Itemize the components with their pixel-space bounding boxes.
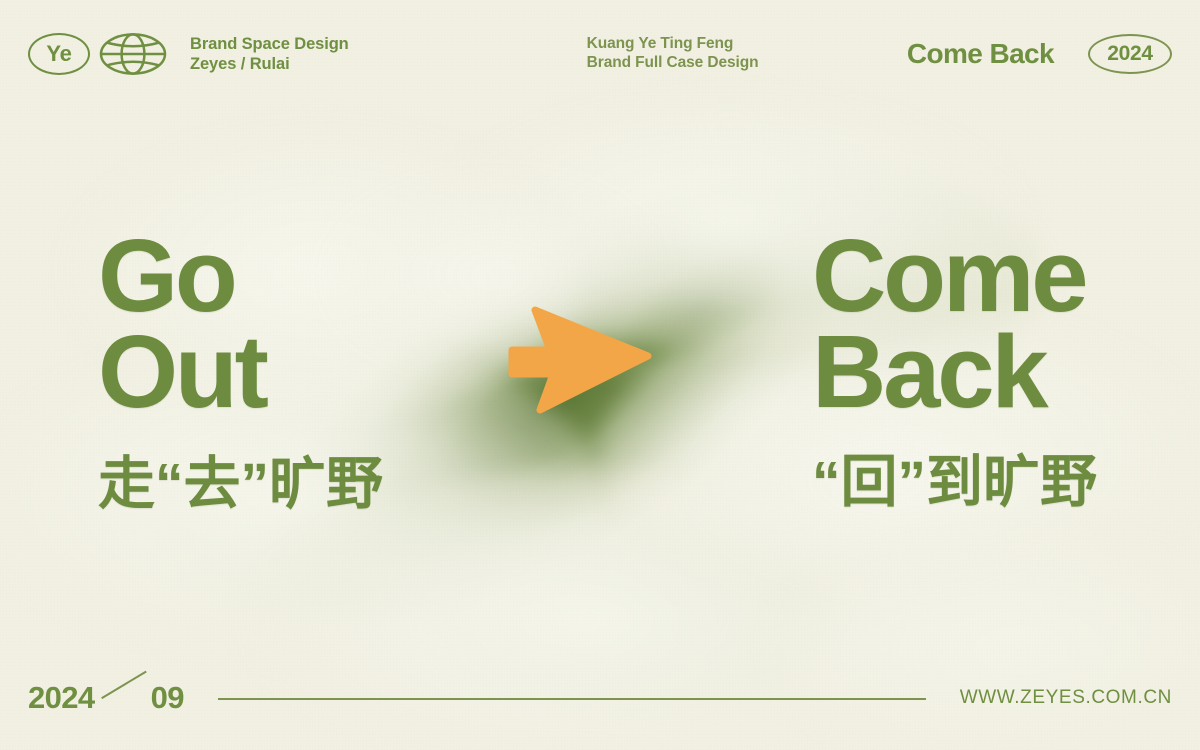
headline-go: Go (98, 228, 383, 324)
footer-divider-rule (218, 698, 926, 700)
brand-tagline-line-1: Brand Space Design (190, 34, 349, 54)
year-badge: 2024 (1088, 34, 1172, 74)
arrow-right-icon (498, 296, 668, 426)
project-subtitle-line-2: Brand Full Case Design (587, 54, 759, 73)
headline-come: Come (812, 228, 1097, 324)
brand-tagline: Brand Space Design Zeyes / Rulai (190, 34, 349, 75)
footer-website-url[interactable]: WWW.ZEYES.COM.CN (960, 687, 1172, 709)
footer-date: 2024 09 (28, 680, 184, 716)
header-kicker-come-back: Come Back (907, 38, 1054, 70)
header-right-group: Come Back 2024 (907, 34, 1172, 74)
brand-tagline-line-2: Zeyes / Rulai (190, 54, 349, 74)
subhead-right-chinese: “回”到旷野 (812, 454, 1097, 511)
brand-logo-group[interactable]: Ye (28, 33, 167, 75)
poster-header: Ye Brand Space Design Zeyes / Rulai Kuan… (0, 0, 1200, 108)
headline-back: Back (812, 324, 1097, 420)
project-subtitle: Kuang Ye Ting Feng Brand Full Case Desig… (587, 35, 759, 73)
footer-year: 2024 (28, 680, 95, 716)
headline-block-left: Go Out 走“去”旷野 (98, 228, 383, 513)
ye-monogram-logo[interactable]: Ye (28, 33, 90, 75)
project-subtitle-line-1: Kuang Ye Ting Feng (587, 35, 759, 54)
globe-icon (99, 33, 167, 75)
poster-canvas: Ye Brand Space Design Zeyes / Rulai Kuan… (0, 0, 1200, 750)
poster-footer: 2024 09 WWW.ZEYES.COM.CN (0, 646, 1200, 750)
subhead-left-chinese: 走“去”旷野 (98, 456, 383, 513)
footer-month: 09 (151, 680, 184, 716)
date-slash-divider (100, 683, 146, 713)
headline-block-right: Come Back “回”到旷野 (812, 228, 1097, 511)
headline-out: Out (98, 324, 383, 420)
